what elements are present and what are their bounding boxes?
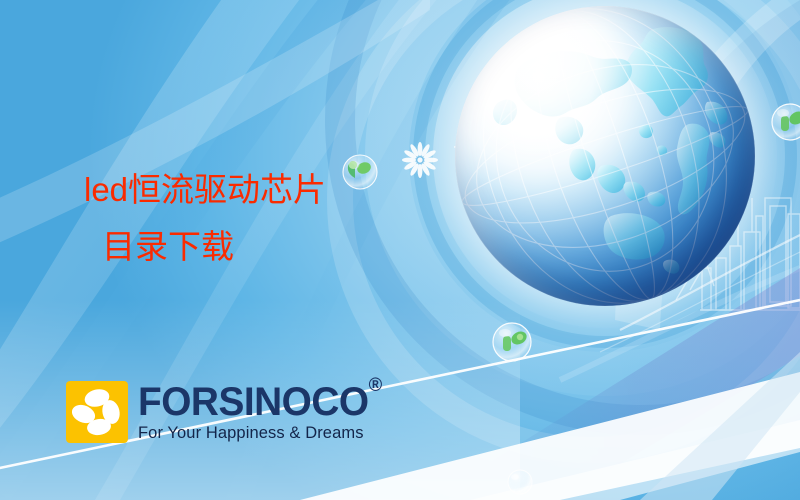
four-petal-pinwheel-mark: [66, 381, 128, 443]
brand-tagline: For Your Happiness & Dreams: [138, 425, 389, 442]
pinwheel-petals: [69, 387, 122, 437]
bubble-with-green-sprout: [772, 104, 800, 140]
brand-logo[interactable]: FORSINOCO® For Your Happiness & Dreams: [66, 381, 389, 443]
page-title: led恒流驱动芯片目录下载: [84, 162, 326, 276]
headline-line-2: 目录下载: [84, 219, 326, 276]
brand-name: FORSINOCO®: [138, 382, 382, 422]
registered-trademark-icon: ®: [369, 375, 382, 396]
brand-wordmark: FORSINOCO: [138, 380, 369, 424]
promo-banner: led恒流驱动芯片目录下载 FORSINOCO® For Your Happin…: [0, 0, 800, 500]
bubble-with-green-sprout: [343, 155, 377, 189]
bubble-with-green-sprout: [493, 323, 531, 361]
logo-text-block: FORSINOCO® For Your Happiness & Dreams: [138, 382, 389, 442]
headline-line-1: led恒流驱动芯片: [84, 171, 326, 208]
bubble-small: [508, 470, 532, 494]
